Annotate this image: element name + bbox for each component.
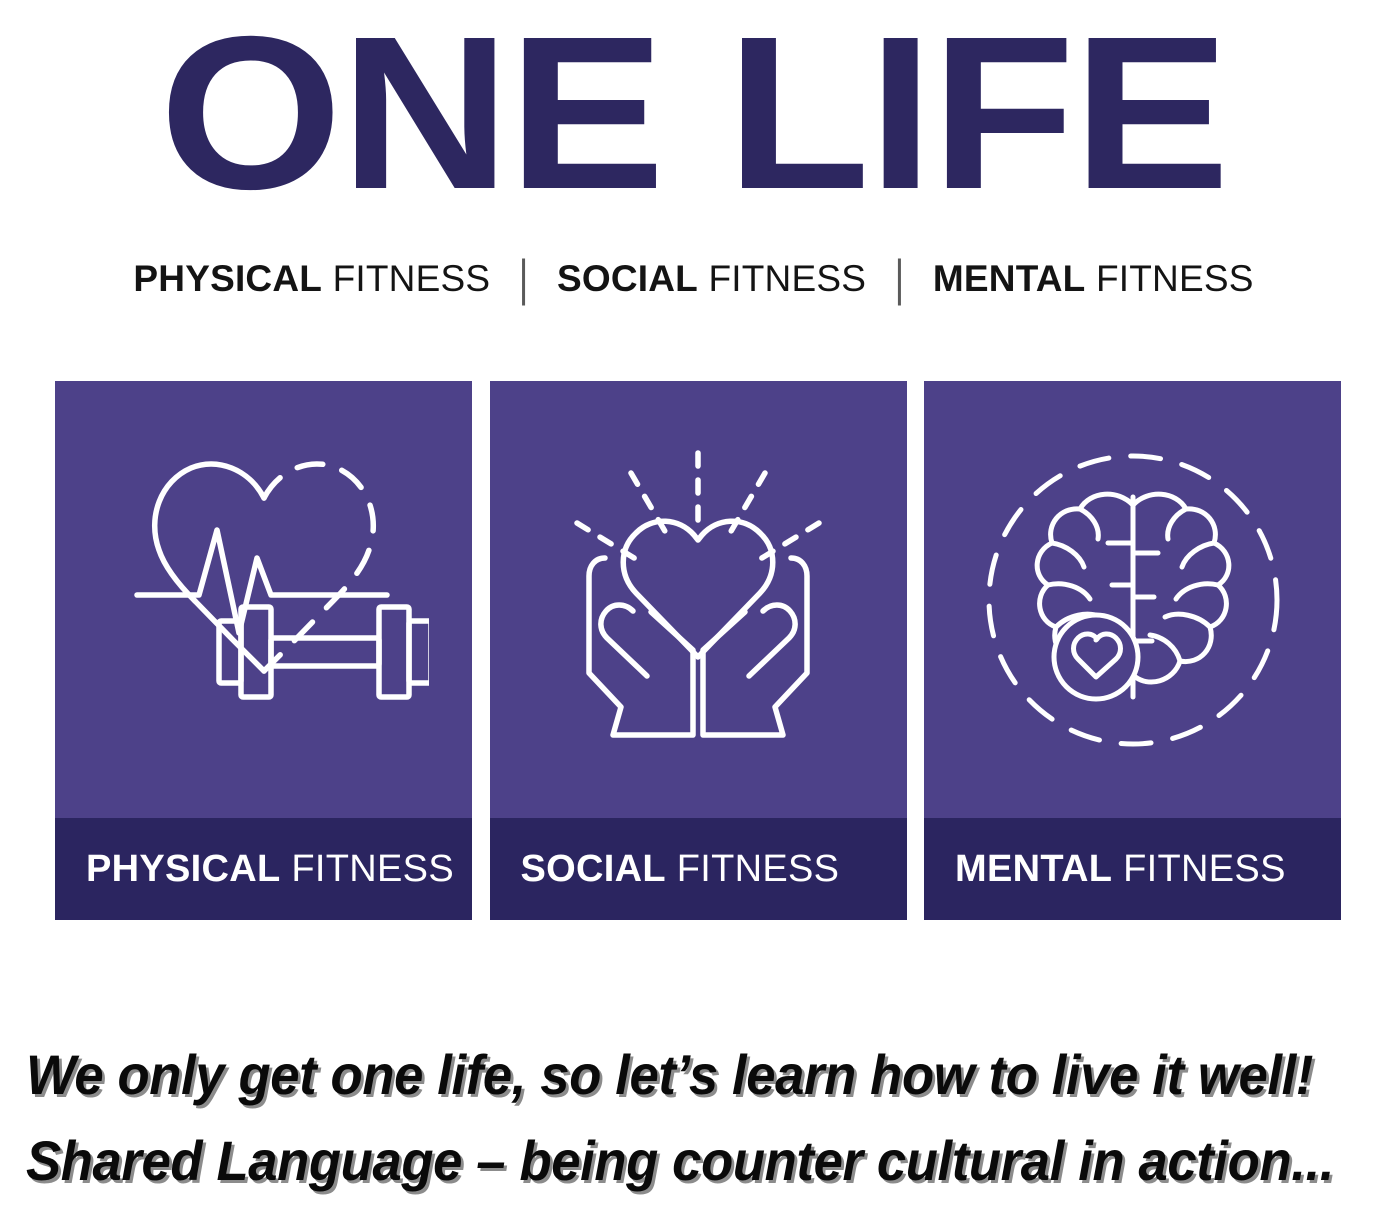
brain-heart-circle-icon xyxy=(968,435,1298,765)
page-title: ONE LIFE xyxy=(0,0,1387,221)
card-social-fitness[interactable]: SOCIAL FITNESS xyxy=(490,381,907,920)
card-physical-label-light: FITNESS xyxy=(291,848,454,890)
hands-holding-heart-icon xyxy=(533,435,863,765)
card-mental-fitness[interactable]: MENTAL FITNESS xyxy=(924,381,1341,920)
tagline-social-strong: SOCIAL xyxy=(557,258,698,299)
slogan-block: We only get one life, so let’s learn how… xyxy=(0,1032,1387,1204)
heart-pulse-dumbbell-icon xyxy=(99,435,429,765)
card-physical-fitness[interactable]: PHYSICAL FITNESS xyxy=(55,381,472,920)
fitness-pillars-row: PHYSICAL FITNESS xyxy=(55,381,1341,920)
tagline-separator-1: | xyxy=(501,249,547,308)
card-mental-label-light: FITNESS xyxy=(1123,848,1286,890)
card-physical-artwork xyxy=(55,381,472,818)
card-social-label-strong: SOCIAL xyxy=(521,848,666,890)
card-mental-artwork xyxy=(924,381,1341,818)
brand-header: ONE LIFE PHYSICAL FITNESS | SOCIAL FITNE… xyxy=(0,0,1387,301)
card-physical-label-strong: PHYSICAL xyxy=(86,848,281,890)
card-mental-footer: MENTAL FITNESS xyxy=(924,818,1341,920)
card-physical-label: PHYSICAL FITNESS xyxy=(86,848,454,890)
slogan-line-1: We only get one life, so let’s learn how… xyxy=(26,1032,1305,1118)
slogan-line-2: Shared Language – being counter cultural… xyxy=(26,1118,1305,1204)
card-physical-footer: PHYSICAL FITNESS xyxy=(55,818,472,920)
card-social-label: SOCIAL FITNESS xyxy=(521,848,840,890)
card-mental-label-strong: MENTAL xyxy=(955,848,1112,890)
tagline-mental-light: FITNESS xyxy=(1096,258,1254,299)
heart-badge-icon xyxy=(1054,615,1138,699)
card-social-footer: SOCIAL FITNESS xyxy=(490,818,907,920)
tagline-social-light: FITNESS xyxy=(708,258,866,299)
card-mental-label: MENTAL FITNESS xyxy=(955,848,1286,890)
card-social-label-light: FITNESS xyxy=(677,848,840,890)
tagline-physical-strong: PHYSICAL xyxy=(133,258,322,299)
tagline-physical-light: FITNESS xyxy=(333,258,491,299)
tagline-mental-strong: MENTAL xyxy=(933,258,1086,299)
card-social-artwork xyxy=(490,381,907,818)
tagline-separator-2: | xyxy=(877,249,923,308)
